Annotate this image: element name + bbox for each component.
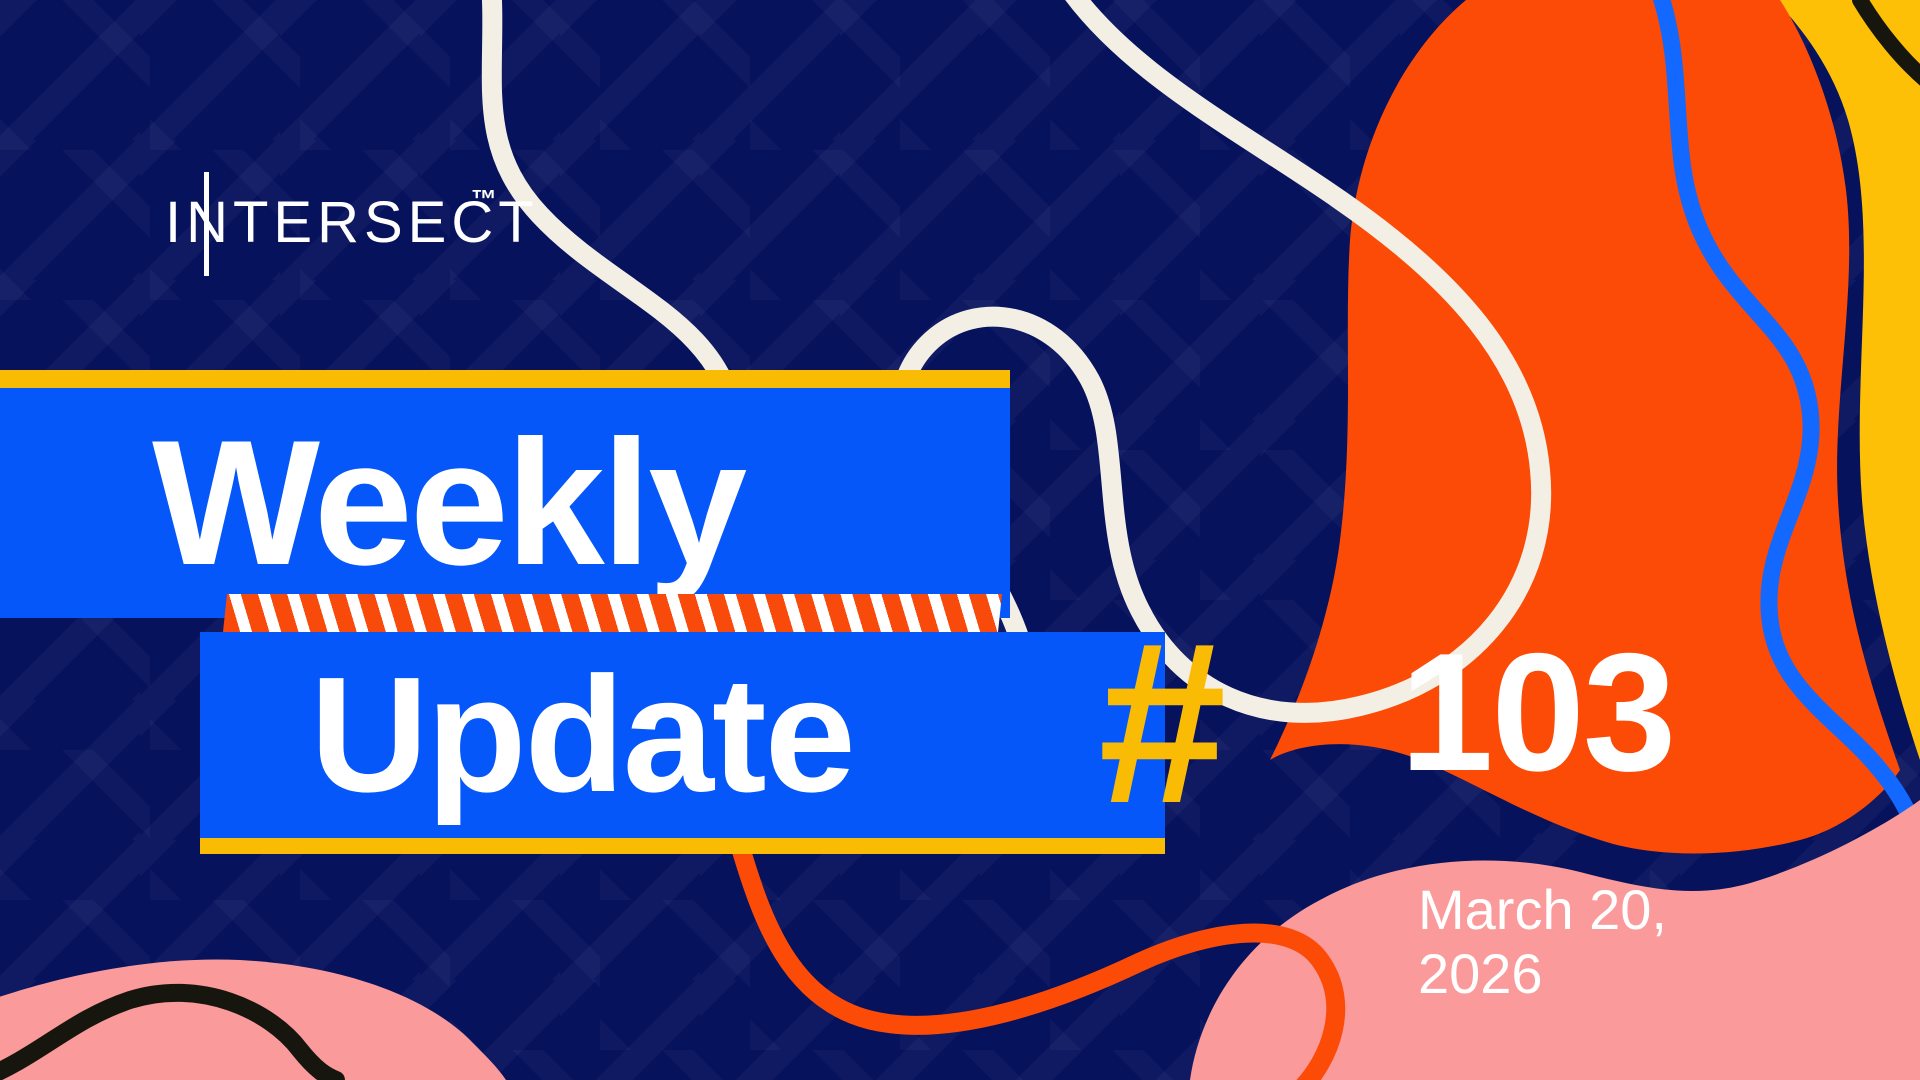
title-line1-block: Weekly	[0, 370, 1010, 618]
intersect-logo[interactable]: INTERSECT ™	[165, 172, 525, 272]
issue-number: 103	[1400, 628, 1674, 796]
yellow-accent-bar-top	[0, 370, 1010, 388]
yellow-accent-bar-bottom	[200, 838, 1165, 854]
title-line2-text: Update	[200, 632, 1165, 838]
hash-symbol: #	[1095, 608, 1213, 838]
title-line1-text: Weekly	[0, 388, 1010, 618]
orange-hatched-strip	[223, 594, 1002, 632]
issue-date: March 20, 2026	[1418, 878, 1718, 1007]
weekly-update-banner: INTERSECT ™ Weekly Update # 103 March 20…	[0, 0, 1920, 1080]
title-line2-block: Update	[200, 632, 1165, 854]
logo-trademark-symbol: ™	[471, 186, 497, 212]
